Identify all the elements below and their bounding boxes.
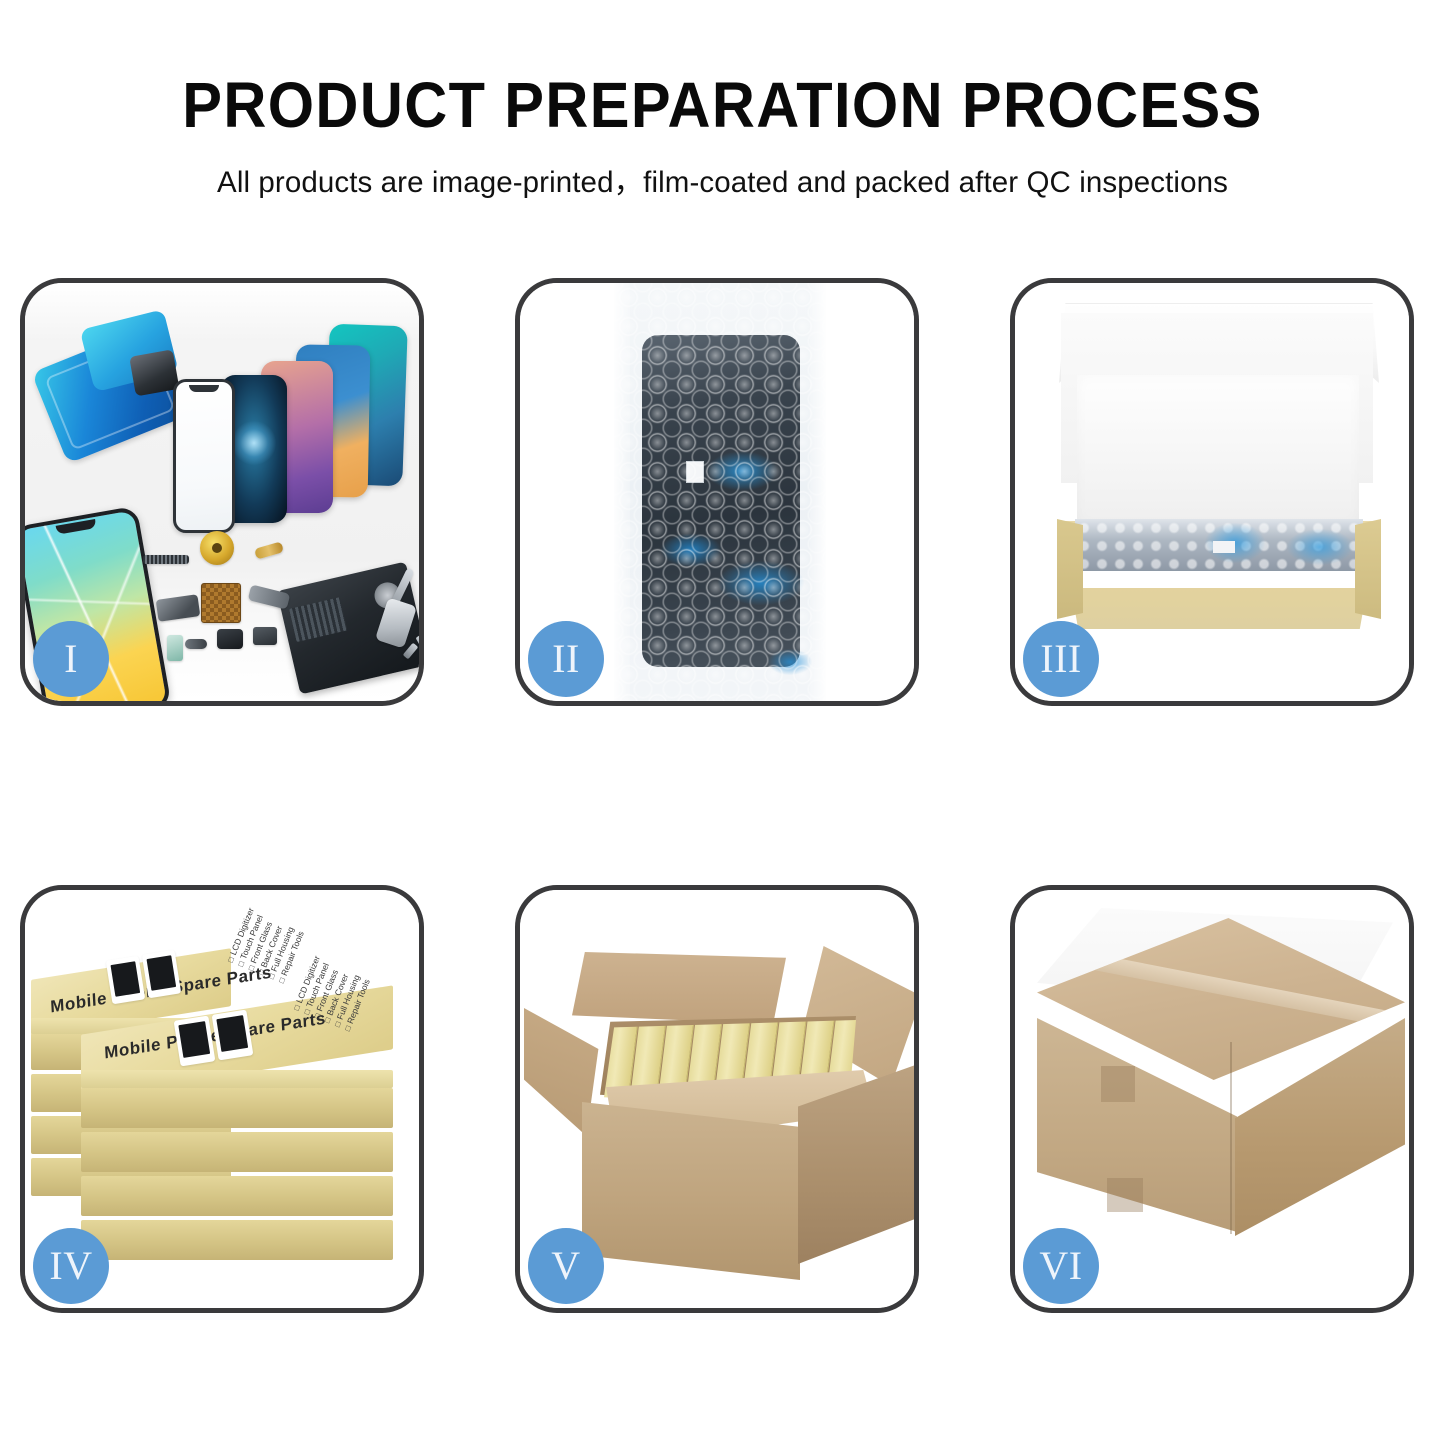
step-badge-3: III	[1023, 621, 1099, 697]
foam-insert-icon	[1077, 375, 1359, 525]
box-phone-thumb-2-icon	[142, 950, 181, 999]
box-flap-left-icon	[1057, 519, 1083, 619]
wrapped-item-icon	[1075, 519, 1363, 571]
carton-tape-patch-1-icon	[1101, 1066, 1135, 1102]
step-badge-6: VI	[1023, 1228, 1099, 1304]
step-badge-2: II	[528, 621, 604, 697]
connector-bar-icon	[143, 555, 189, 564]
box-flap-right-icon	[1355, 519, 1381, 619]
speaker-coil-icon	[200, 531, 234, 565]
bubble-grid-offset-icon	[614, 283, 826, 701]
page-subtitle: All products are image-printed，film-coat…	[0, 139, 1445, 201]
carton-front-wall-icon	[582, 1102, 800, 1280]
wrap-edge-right-icon	[810, 283, 826, 701]
process-step-4[interactable]: Mobile Phone Spare Parts Mobile Phone Sp…	[20, 885, 424, 1313]
process-row-bottom: Mobile Phone Spare Parts Mobile Phone Sp…	[0, 885, 1445, 1315]
process-step-3[interactable]: III	[1010, 278, 1414, 706]
process-row-top: I II	[0, 278, 1445, 708]
carton-flap-back-icon	[572, 952, 786, 1024]
camera-module-icon	[217, 629, 243, 649]
sim-tray-icon	[167, 635, 183, 661]
box-phone-thumb-3-icon	[174, 1016, 216, 1067]
page-header: PRODUCT PREPARATION PROCESS All products…	[0, 0, 1445, 250]
page-title: PRODUCT PREPARATION PROCESS	[51, 0, 1395, 139]
step-badge-4: IV	[33, 1228, 109, 1304]
carton-tape-patch-2-icon	[1107, 1178, 1143, 1212]
carton-corner-seam-icon	[1230, 1042, 1232, 1234]
box-phone-thumb-1-icon	[106, 956, 145, 1005]
process-step-1[interactable]: I	[20, 278, 424, 706]
step-badge-5: V	[528, 1228, 604, 1304]
side-button-icon	[185, 639, 207, 649]
speaker-module-icon	[253, 627, 277, 645]
bga-chip-icon	[201, 583, 241, 623]
box-phone-thumb-4-icon	[212, 1010, 254, 1061]
process-step-6[interactable]: VI	[1010, 885, 1414, 1313]
process-step-5[interactable]: V	[515, 885, 919, 1313]
process-step-2[interactable]: II	[515, 278, 919, 706]
front-glass-panel-icon	[173, 379, 235, 533]
wrap-edge-left-icon	[614, 283, 630, 701]
step-badge-1: I	[33, 621, 109, 697]
